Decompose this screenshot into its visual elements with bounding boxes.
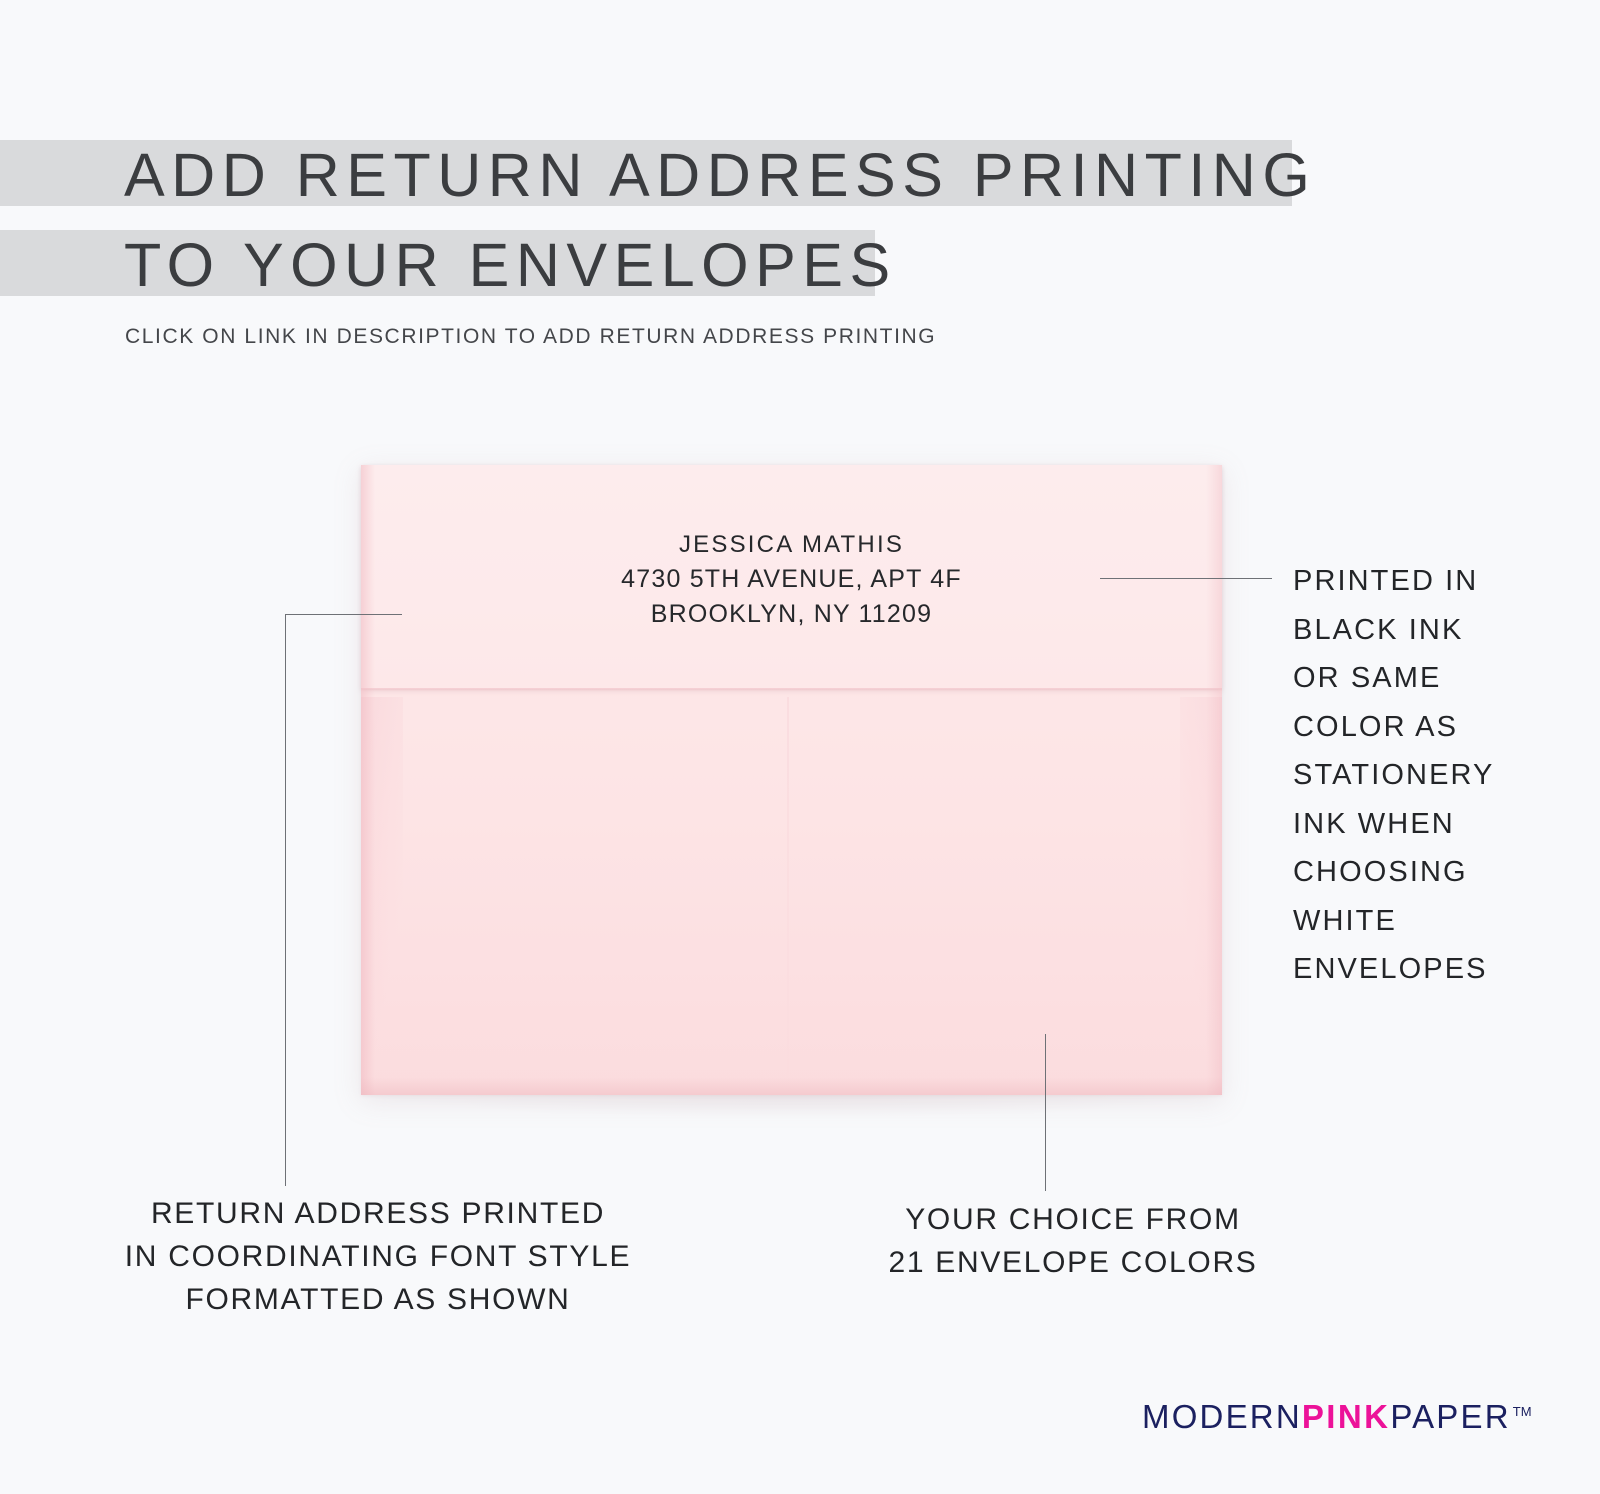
return-address-city-state-zip: BROOKLYN, NY 11209 xyxy=(361,597,1222,632)
envelope-mockup: JESSICA MATHIS 4730 5TH AVENUE, APT 4F B… xyxy=(361,465,1222,1095)
callout-bottom-left-line-1: RETURN ADDRESS PRINTED xyxy=(98,1192,658,1235)
callout-right-line-2: BLACK INK xyxy=(1293,606,1583,655)
headline-block: ADD RETURN ADDRESS PRINTING TO YOUR ENVE… xyxy=(0,140,1600,304)
subtitle: CLICK ON LINK IN DESCRIPTION TO ADD RETU… xyxy=(125,325,936,349)
return-address-name: JESSICA MATHIS xyxy=(361,527,1222,562)
envelope-seam-left xyxy=(361,697,792,1095)
callout-return-address-font-style: RETURN ADDRESS PRINTED IN COORDINATING F… xyxy=(98,1192,658,1321)
envelope-seam-right xyxy=(792,697,1223,1095)
callout-right-line-5: STATIONERY xyxy=(1293,751,1583,800)
logo-part-pink: PINK xyxy=(1302,1398,1390,1435)
return-address-block: JESSICA MATHIS 4730 5TH AVENUE, APT 4F B… xyxy=(361,527,1222,632)
headline-row-1: ADD RETURN ADDRESS PRINTING xyxy=(0,140,1600,222)
leader-line-right xyxy=(1100,578,1272,579)
callout-right-line-8: WHITE xyxy=(1293,897,1583,946)
callout-bottom-left-line-2: IN COORDINATING FONT STYLE xyxy=(98,1235,658,1278)
callout-right-line-9: ENVELOPES xyxy=(1293,945,1583,994)
leader-line-left-vertical xyxy=(285,614,286,1186)
headline-line-2: TO YOUR ENVELOPES xyxy=(124,228,897,302)
headline-row-2: TO YOUR ENVELOPES xyxy=(0,222,1600,304)
callout-printed-in-black-ink: PRINTED IN BLACK INK OR SAME COLOR AS ST… xyxy=(1293,557,1583,994)
return-address-street: 4730 5TH AVENUE, APT 4F xyxy=(361,562,1222,597)
envelope-flap-edge xyxy=(361,688,1222,691)
leader-line-left-horizontal xyxy=(285,614,402,615)
callout-envelope-colors: YOUR CHOICE FROM 21 ENVELOPE COLORS xyxy=(868,1198,1278,1284)
callout-right-line-6: INK WHEN xyxy=(1293,800,1583,849)
callout-bottom-center-line-1: YOUR CHOICE FROM xyxy=(868,1198,1278,1241)
callout-right-line-7: CHOOSING xyxy=(1293,848,1583,897)
logo-part-paper: PAPER xyxy=(1390,1398,1510,1435)
callout-bottom-left-line-3: FORMATTED AS SHOWN xyxy=(98,1278,658,1321)
callout-bottom-center-line-2: 21 ENVELOPE COLORS xyxy=(868,1241,1278,1284)
trademark-symbol: TM xyxy=(1513,1404,1532,1419)
leader-line-bottom-vertical xyxy=(1045,1034,1046,1191)
brand-logo: MODERNPINKPAPERTM xyxy=(1142,1398,1532,1436)
callout-right-line-4: COLOR AS xyxy=(1293,703,1583,752)
headline-line-1: ADD RETURN ADDRESS PRINTING xyxy=(124,138,1316,212)
logo-part-modern: MODERN xyxy=(1142,1398,1302,1435)
envelope-seam-center xyxy=(787,697,789,1095)
envelope-bottom-edge-shading xyxy=(361,1077,1222,1095)
callout-right-line-1: PRINTED IN xyxy=(1293,557,1583,606)
callout-right-line-3: OR SAME xyxy=(1293,654,1583,703)
